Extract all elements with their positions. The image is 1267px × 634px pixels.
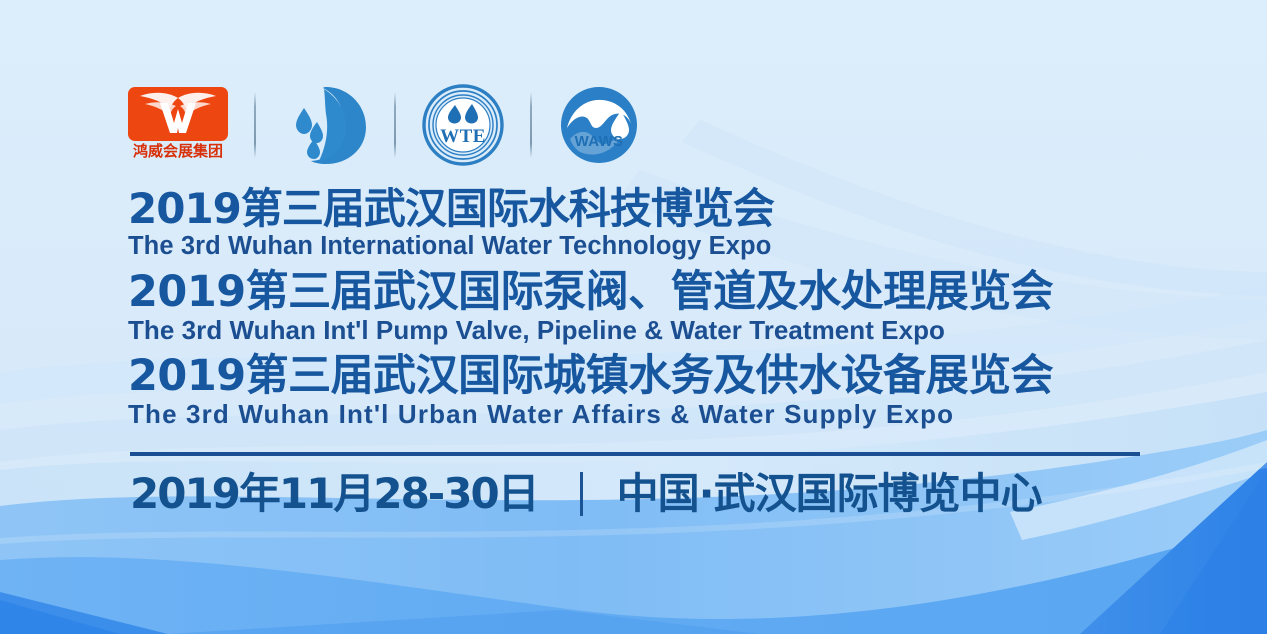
headline-1-chinese: 2019第三届武汉国际水科技博览会 [128,188,1053,230]
logo-separator [530,92,532,158]
headline-3-chinese: 2019第三届武汉国际城镇水务及供水设备展览会 [128,355,1053,398]
horizontal-divider [130,452,1140,456]
event-venue: 中国·武汉国际博览中心 [617,473,1042,515]
water-droplet-icon [282,84,368,166]
headline-2-english: The 3rd Wuhan Int'l Pump Valve, Pipeline… [128,317,1053,344]
grandeur-mark-box: GRANDEUR EXHIBITION GROUP [128,87,228,141]
logo-wte: WTE [422,84,504,166]
headline-2-chinese: 2019第三届武汉国际泵阀、管道及水处理展览会 [128,271,1053,314]
logo-row: GRANDEUR EXHIBITION GROUP 鸿威会展集团 [128,78,640,172]
headline-group-3: 2019第三届武汉国际城镇水务及供水设备展览会 The 3rd Wuhan In… [128,355,1053,428]
headline-1-english: The 3rd Wuhan International Water Techno… [128,233,1053,260]
headline-group-2: 2019第三届武汉国际泵阀、管道及水处理展览会 The 3rd Wuhan In… [128,271,1053,344]
waws-icon: WAWS [558,84,640,166]
headline-group-1: 2019第三届武汉国际水科技博览会 The 3rd Wuhan Internat… [128,188,1053,260]
footer-separator [580,472,583,516]
event-banner: GRANDEUR EXHIBITION GROUP 鸿威会展集团 [0,0,1267,634]
logo-water-droplet [282,84,368,166]
grandeur-chinese-name: 鸿威会展集团 [133,143,223,160]
logo-waws: WAWS [558,84,640,166]
logo-grandeur-exhibition-group: GRANDEUR EXHIBITION GROUP 鸿威会展集团 [128,87,228,163]
logo-separator [254,92,256,158]
waws-label: WAWS [575,133,624,150]
headline-3-english: The 3rd Wuhan Int'l Urban Water Affairs … [128,401,1053,428]
logo-separator [394,92,396,158]
grandeur-wings-w-icon [132,89,224,139]
event-date: 2019年11月28-30日 [130,473,538,515]
footer-line: 2019年11月28-30日 中国·武汉国际博览中心 [130,472,1042,516]
grandeur-english-caption: GRANDEUR EXHIBITION GROUP [128,135,228,139]
wte-icon: WTE [422,84,504,166]
wte-label: WTE [440,126,486,147]
headline-block: 2019第三届武汉国际水科技博览会 The 3rd Wuhan Internat… [128,188,1053,429]
